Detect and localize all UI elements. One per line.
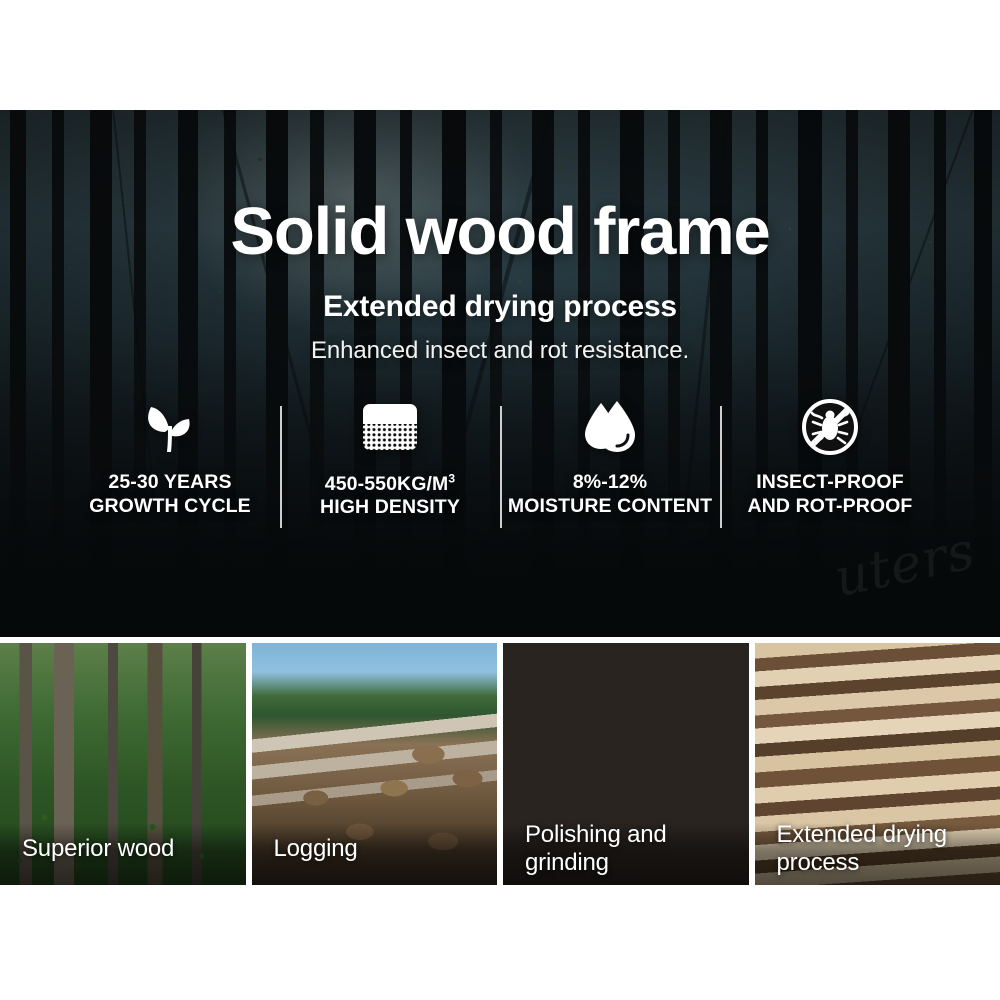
- hero-subheadline: Extended drying process: [0, 290, 1000, 324]
- infographic-page: uters Solid wood frame Extended drying p…: [0, 0, 1000, 1000]
- gallery-caption: Extended drying process: [755, 823, 1000, 885]
- feature-line2: GROWTH CYCLE: [89, 495, 251, 519]
- process-gallery: Superior wood Logging Polishing and grin…: [0, 643, 1000, 885]
- cubic-superscript: 3: [448, 471, 455, 485]
- feature-item-insect-proof: INSECT-PROOF AND ROT-PROOF: [720, 396, 940, 519]
- feature-item-moisture-content: 8%-12% MOISTURE CONTENT: [500, 396, 720, 519]
- hero-tagline: Enhanced insect and rot resistance.: [0, 337, 1000, 365]
- feature-item-growth-cycle: 25-30 YEARS GROWTH CYCLE: [60, 396, 280, 519]
- density-block-icon: [361, 396, 419, 458]
- feature-text-high-density: 450-550KG/M3 HIGH DENSITY: [320, 471, 460, 520]
- gallery-caption: Logging: [252, 823, 498, 885]
- feature-line2: AND ROT-PROOF: [748, 495, 913, 519]
- feature-list: 25-30 YEARS GROWTH CYCLE: [60, 396, 940, 536]
- gallery-tile-polishing-grinding: Polishing and grinding: [503, 643, 749, 885]
- feature-text-growth-cycle: 25-30 YEARS GROWTH CYCLE: [89, 471, 251, 519]
- feature-line1: 450-550KG/M3: [325, 473, 455, 495]
- gallery-caption: Superior wood: [0, 823, 246, 885]
- hero-banner: uters Solid wood frame Extended drying p…: [0, 110, 1000, 637]
- feature-text-insect-proof: INSECT-PROOF AND ROT-PROOF: [748, 471, 913, 519]
- gallery-tile-logging: Logging: [252, 643, 498, 885]
- gallery-tile-superior-wood: Superior wood: [0, 643, 246, 885]
- no-insect-icon: [801, 396, 859, 458]
- water-drops-icon: [579, 396, 641, 458]
- hero-content: Solid wood frame Extended drying process…: [0, 110, 1000, 637]
- leaf-sprout-icon: [139, 396, 201, 458]
- feature-line1: 25-30 YEARS: [108, 471, 231, 493]
- feature-text-moisture-content: 8%-12% MOISTURE CONTENT: [508, 471, 712, 519]
- gallery-caption: Polishing and grinding: [503, 823, 749, 885]
- gallery-tile-extended-drying: Extended drying process: [755, 643, 1000, 885]
- feature-line1: 8%-12%: [573, 471, 647, 493]
- feature-line2: HIGH DENSITY: [320, 496, 460, 520]
- feature-line1: INSECT-PROOF: [756, 471, 903, 493]
- feature-item-high-density: 450-550KG/M3 HIGH DENSITY: [280, 396, 500, 520]
- hero-headline: Solid wood frame: [0, 198, 1000, 265]
- feature-line2: MOISTURE CONTENT: [508, 495, 712, 519]
